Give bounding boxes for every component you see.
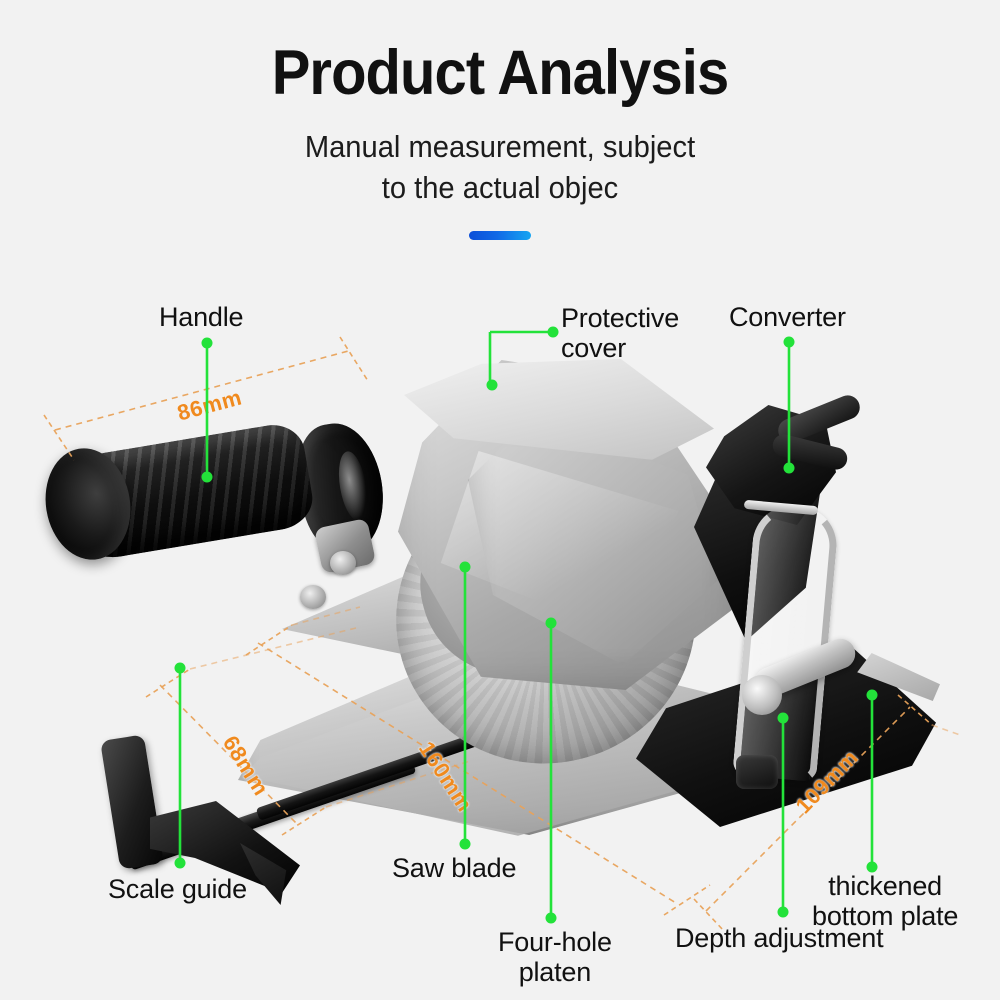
callout-label-scale-guide: Scale guide [108, 874, 247, 904]
callout-label-saw-blade: Saw blade [392, 853, 516, 883]
callout-label-protective-cover: Protective cover [561, 303, 679, 363]
callout-label-thickened-bottom-plate: thickened bottom plate [812, 871, 958, 931]
callout-label-handle: Handle [159, 302, 243, 332]
infographic-page: Product Analysis Manual measurement, sub… [0, 0, 1000, 1000]
callout-label-four-hole-platen: Four-hole platen [498, 927, 612, 987]
subtitle-line-2: to the actual objec [30, 168, 970, 209]
page-title: Product Analysis [40, 42, 960, 105]
callout-label-converter: Converter [729, 302, 846, 332]
subtitle-line-1: Manual measurement, subject [30, 127, 970, 168]
page-subtitle: Manual measurement, subject to the actua… [30, 127, 970, 209]
header: Product Analysis Manual measurement, sub… [0, 42, 1000, 240]
product-photo-stage: WARNING MAX 75 [0, 255, 1000, 1000]
accent-divider [469, 231, 531, 240]
